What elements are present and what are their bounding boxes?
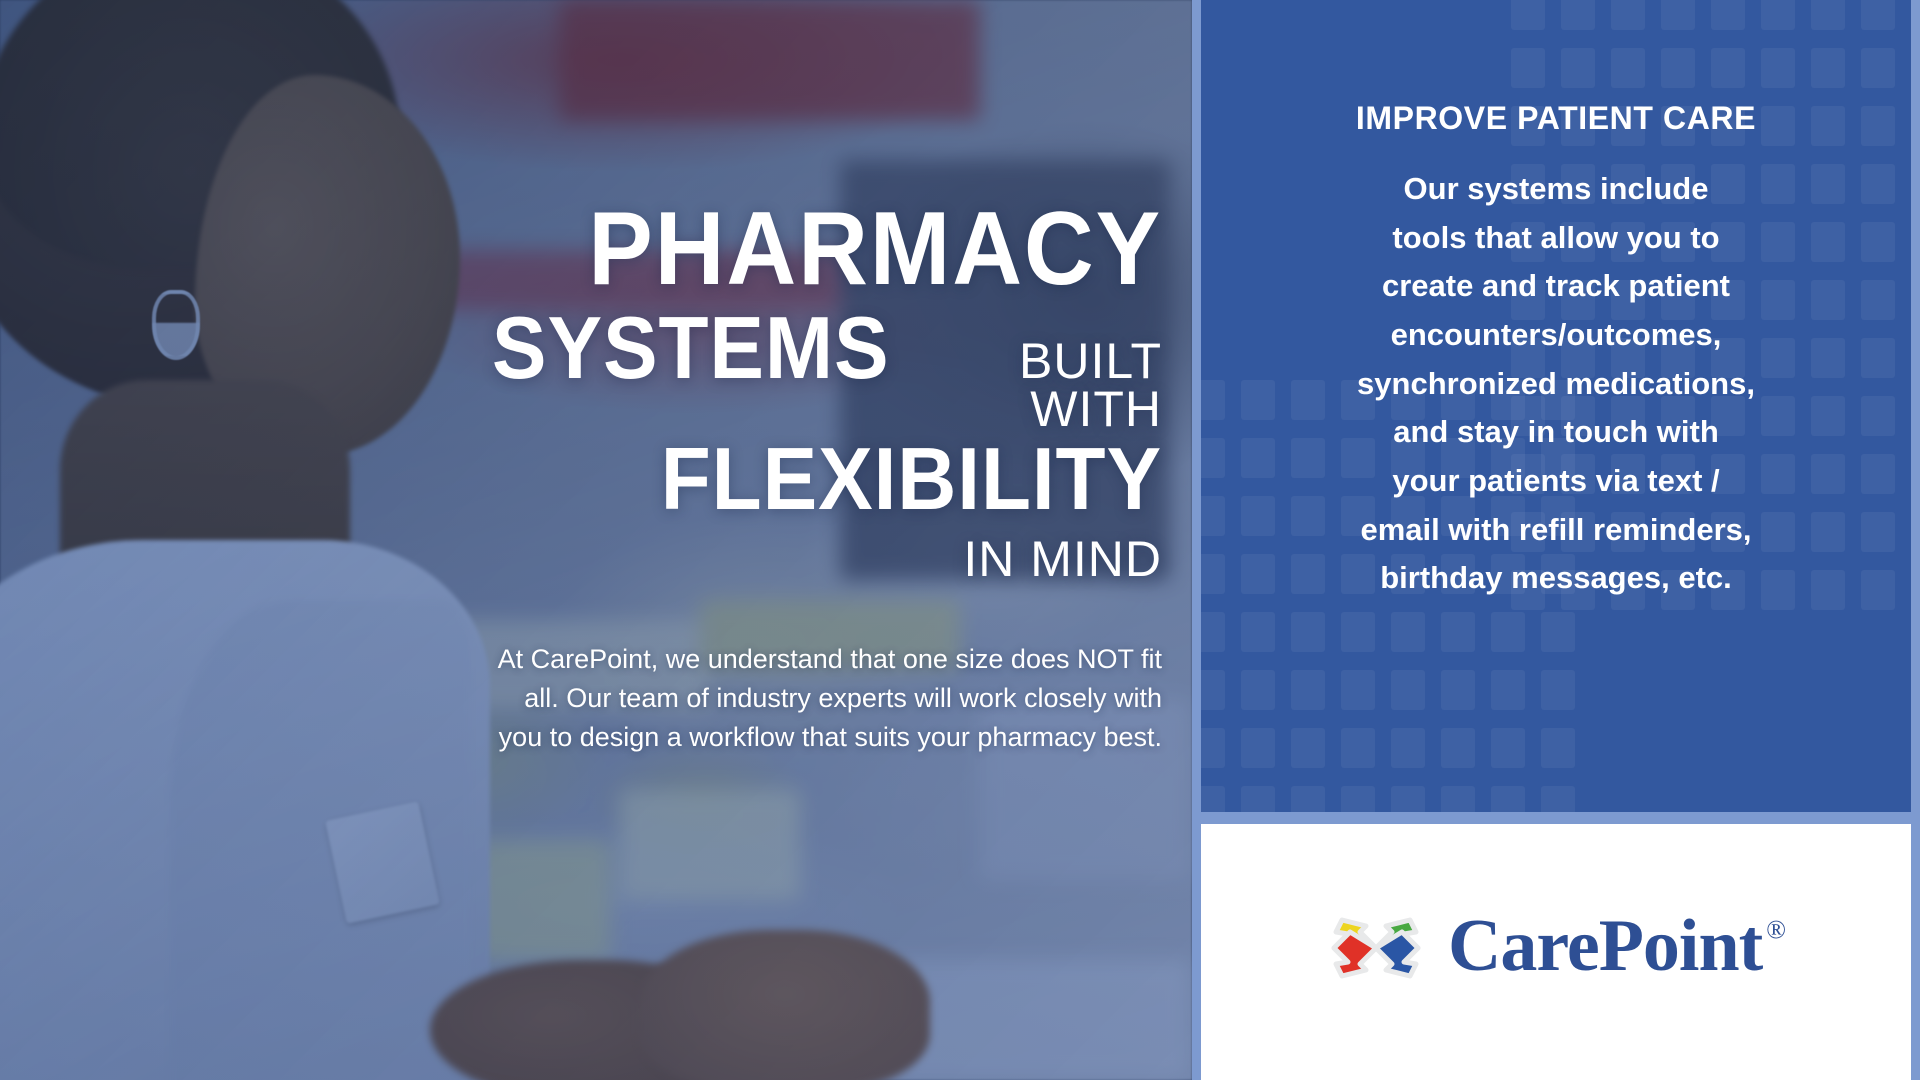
improve-patient-care-card: IMPROVE PATIENT CARE Our systems include… bbox=[1201, 0, 1911, 812]
headline-row-systems: SYSTEMS BUILT WITH bbox=[462, 306, 1162, 433]
card-body-line-4: encounters/outcomes, bbox=[1241, 311, 1871, 360]
card-body-line-2: tools that allow you to bbox=[1241, 214, 1871, 263]
pattern-square bbox=[1441, 612, 1475, 652]
card-title: IMPROVE PATIENT CARE bbox=[1201, 100, 1911, 137]
pattern-square bbox=[1611, 0, 1645, 30]
headline-line-built-with: BUILT WITH bbox=[914, 337, 1162, 433]
pattern-square bbox=[1761, 48, 1795, 88]
pattern-square bbox=[1201, 728, 1225, 768]
logo-card: CarePoint ® bbox=[1201, 824, 1911, 1080]
headline-line-systems: SYSTEMS bbox=[492, 306, 890, 390]
pattern-square bbox=[1711, 0, 1745, 30]
pattern-square bbox=[1811, 48, 1845, 88]
registered-trademark-icon: ® bbox=[1766, 915, 1786, 945]
pattern-square bbox=[1291, 728, 1325, 768]
pattern-square bbox=[1661, 48, 1695, 88]
pattern-square bbox=[1811, 0, 1845, 30]
pattern-square bbox=[1861, 0, 1895, 30]
headline-line-pharmacy: PHARMACY bbox=[511, 200, 1162, 300]
pattern-square bbox=[1291, 670, 1325, 710]
pattern-square bbox=[1561, 48, 1595, 88]
card-body-text: Our systems includetools that allow you … bbox=[1241, 165, 1871, 603]
pattern-square bbox=[1201, 554, 1225, 594]
carepoint-logo: CarePoint ® bbox=[1326, 902, 1786, 990]
pattern-square bbox=[1441, 670, 1475, 710]
pattern-square bbox=[1291, 612, 1325, 652]
card-body-line-9: birthday messages, etc. bbox=[1241, 554, 1871, 603]
pattern-square bbox=[1241, 670, 1275, 710]
pattern-square bbox=[1561, 0, 1595, 30]
pattern-square bbox=[1341, 670, 1375, 710]
pattern-square bbox=[1201, 612, 1225, 652]
pharmacist-photo-panel: PHARMACY SYSTEMS BUILT WITH FLEXIBILITY … bbox=[0, 0, 1192, 1080]
pattern-square bbox=[1201, 496, 1225, 536]
pattern-square bbox=[1491, 786, 1525, 812]
pattern-square bbox=[1391, 786, 1425, 812]
pattern-square bbox=[1341, 612, 1375, 652]
pattern-square bbox=[1391, 728, 1425, 768]
pattern-square bbox=[1491, 670, 1525, 710]
pattern-square bbox=[1711, 48, 1745, 88]
pattern-square bbox=[1661, 0, 1695, 30]
card-body-line-3: create and track patient bbox=[1241, 262, 1871, 311]
slide-root: PHARMACY SYSTEMS BUILT WITH FLEXIBILITY … bbox=[0, 0, 1920, 1080]
pattern-square bbox=[1391, 612, 1425, 652]
pattern-square bbox=[1201, 380, 1225, 420]
card-body-line-1: Our systems include bbox=[1241, 165, 1871, 214]
card-body-line-7: your patients via text / bbox=[1241, 457, 1871, 506]
carepoint-wordmark: CarePoint bbox=[1448, 909, 1762, 983]
right-column: IMPROVE PATIENT CARE Our systems include… bbox=[1192, 0, 1920, 1080]
headline-line-in-mind: IN MIND bbox=[462, 535, 1162, 583]
pattern-square bbox=[1491, 612, 1525, 652]
card-body-line-8: email with refill reminders, bbox=[1241, 506, 1871, 555]
pattern-square bbox=[1201, 786, 1225, 812]
pattern-square bbox=[1541, 786, 1575, 812]
pattern-square bbox=[1241, 786, 1275, 812]
photo-paragraph: At CarePoint, we understand that one siz… bbox=[482, 640, 1162, 757]
pattern-square bbox=[1201, 670, 1225, 710]
carepoint-wordmark-group: CarePoint ® bbox=[1448, 909, 1786, 983]
pattern-square bbox=[1241, 612, 1275, 652]
pattern-square bbox=[1491, 728, 1525, 768]
pattern-square bbox=[1541, 670, 1575, 710]
card-body-line-5: synchronized medications, bbox=[1241, 360, 1871, 409]
pattern-square bbox=[1201, 438, 1225, 478]
pattern-square bbox=[1611, 48, 1645, 88]
pattern-square bbox=[1761, 0, 1795, 30]
headline-line-flexibility: FLEXIBILITY bbox=[511, 437, 1162, 521]
pattern-square bbox=[1341, 728, 1375, 768]
pattern-square bbox=[1861, 48, 1895, 88]
pattern-square bbox=[1391, 670, 1425, 710]
carepoint-pinwheel-icon bbox=[1326, 902, 1426, 990]
pattern-square bbox=[1441, 728, 1475, 768]
pattern-square bbox=[1241, 728, 1275, 768]
pattern-square bbox=[1511, 0, 1545, 30]
card-body-line-6: and stay in touch with bbox=[1241, 408, 1871, 457]
pattern-square bbox=[1541, 728, 1575, 768]
headline-block: PHARMACY SYSTEMS BUILT WITH FLEXIBILITY … bbox=[462, 200, 1162, 583]
pattern-square bbox=[1341, 786, 1375, 812]
pattern-square bbox=[1291, 786, 1325, 812]
pattern-square bbox=[1441, 786, 1475, 812]
pattern-square bbox=[1541, 612, 1575, 652]
pattern-square bbox=[1511, 48, 1545, 88]
